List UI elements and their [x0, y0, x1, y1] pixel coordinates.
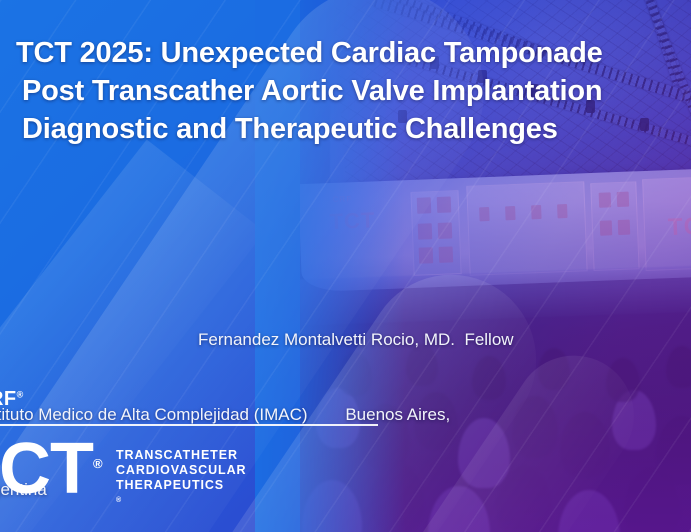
slide-title: TCT 2025: Unexpected Cardiac Tamponade P…	[16, 34, 676, 148]
slide-content: TCT 2025: Unexpected Cardiac Tamponade P…	[0, 0, 691, 532]
crf-abbrev: CRF	[0, 388, 17, 410]
title-line-1: TCT 2025: Unexpected Cardiac Tamponade	[16, 34, 676, 72]
logo-divider-rule	[0, 424, 378, 426]
tagline-line-2: CARDIOVASCULAR	[116, 463, 246, 478]
author-name-line: Fernandez Montalvetti Rocio, MD. Fellow	[0, 327, 691, 352]
tagline-registered-mark: ®	[116, 497, 122, 504]
tct-crf-logo: CRF® TCT® TRANSCATHETER CARDIOVASCULAR T…	[0, 388, 274, 508]
title-line-2: Post Transcather Aortic Valve Implantati…	[16, 72, 676, 110]
crf-registered-mark: ®	[17, 389, 24, 399]
tagline-line-1: TRANSCATHETER	[116, 448, 246, 463]
tct-tagline: TRANSCATHETER CARDIOVASCULAR THERAPEUTIC…	[116, 448, 246, 511]
tct-brand-text: TCT	[0, 429, 93, 509]
tct-registered-mark: ®	[93, 456, 102, 471]
tagline-line-3: THERAPEUTICS®	[116, 478, 246, 511]
tct-wordmark: TCT®	[0, 428, 102, 505]
presentation-slide: TCT CRF TCT	[0, 0, 691, 532]
title-line-3: Diagnostic and Therapeutic Challenges	[16, 110, 676, 148]
crf-logo-text: CRF®	[0, 388, 24, 411]
tagline-line-3-text: THERAPEUTICS	[116, 478, 246, 493]
